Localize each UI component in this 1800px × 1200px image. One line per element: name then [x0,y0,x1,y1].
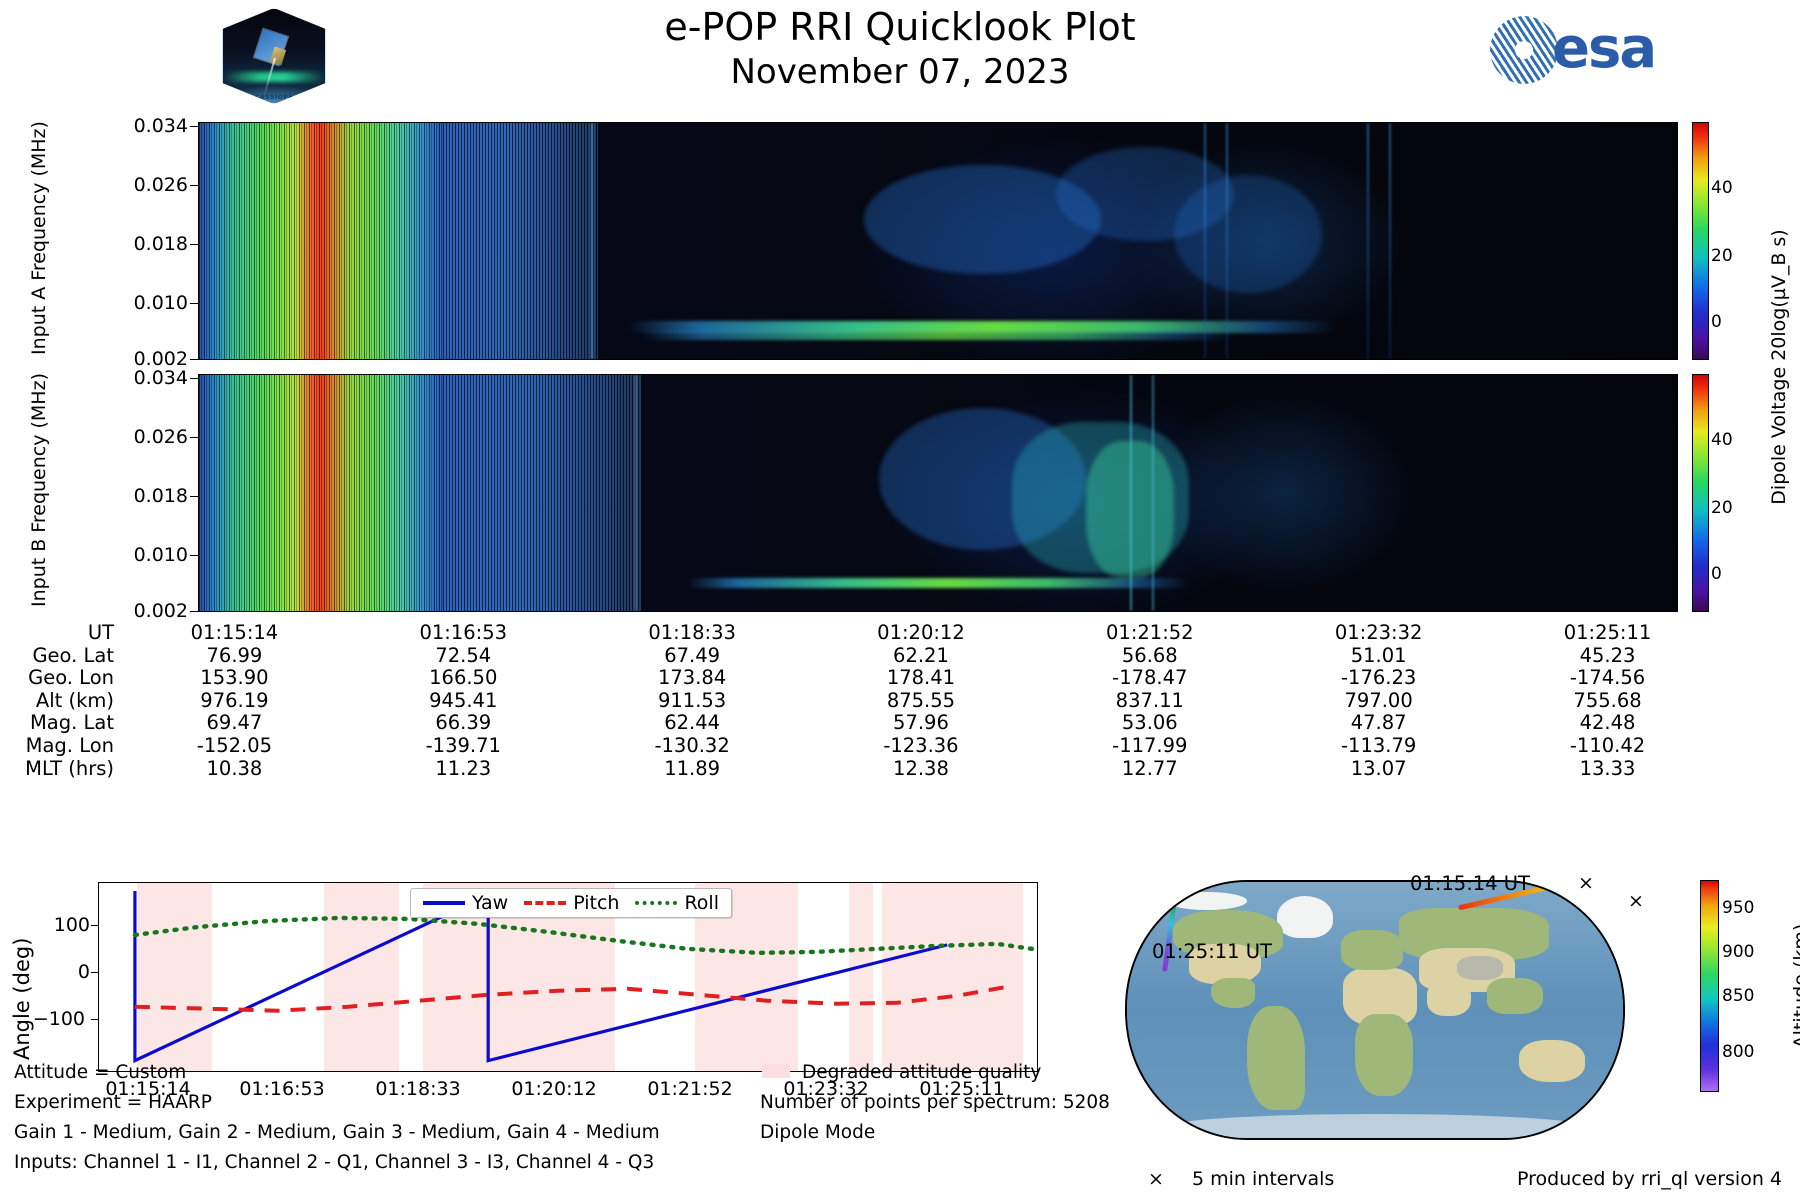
map-antarctica [1167,1114,1587,1140]
map-africa [1355,1014,1413,1096]
spacer [1722,735,1800,758]
cbar-a-tick-20: 20 [1711,246,1733,266]
spec-a-tickmark [190,359,198,360]
cell-geolon-6: -174.56 [1493,667,1722,690]
spectrogram-b-ylabel: Input B Frequency (MHz) [28,373,50,607]
cassiope-caption: CASSIOPE [223,94,325,101]
spacer [1722,667,1800,690]
attitude-legend: Yaw Pitch Roll [410,888,732,918]
spec-b-tickmark [190,437,198,438]
cell-maglat-6: 42.48 [1493,712,1722,735]
table-row-mlt: MLT (hrs) 10.38 11.23 11.89 12.38 12.77 … [0,758,1800,781]
cell-geolat-0: 76.99 [120,645,349,668]
attitude-tickmark [91,972,98,973]
cbar-a-tick-0: 0 [1711,312,1722,332]
cell-mlt-4: 12.77 [1035,758,1264,781]
spec-a-tickmark [190,244,198,245]
map-australia [1519,1040,1585,1082]
table-row-geo-lat: Geo. Lat 76.99 72.54 67.49 62.21 56.68 5… [0,645,1800,668]
row-label-mag-lat: Mag. Lat [0,712,120,735]
footer-dipole-mode-line: Dipole Mode [760,1118,1110,1148]
spec-b-ytick-4: 0.002 [96,600,188,622]
spec-a-emission-line-2 [642,331,1233,340]
spec-a-bright-band [199,123,443,359]
legend-item-yaw: Yaw [423,892,508,914]
spec-a-tickmark [190,185,198,186]
cell-mlt-3: 12.38 [807,758,1036,781]
cell-maglat-0: 69.47 [120,712,349,735]
cell-alt-0: 976.19 [120,690,349,713]
alt-tick-950: 950 [1722,898,1754,918]
spectrogram-panel-b [198,374,1678,612]
cell-maglat-4: 53.06 [1035,712,1264,735]
spec-a-mid-band [443,123,606,359]
spec-a-vertical-streak [1226,123,1228,359]
cell-maglon-3: -123.36 [807,735,1036,758]
attitude-ytick-neg100: −100 [5,1008,85,1030]
map-south-america [1247,1006,1305,1110]
spectrogram-panel-a [198,122,1678,360]
cell-alt-4: 837.11 [1035,690,1264,713]
map-southeast-asia [1487,978,1543,1014]
footer-mid-block: Degraded attitude quality Number of poin… [760,1058,1110,1148]
dipole-voltage-colorbar-label: Dipole Voltage 20log(µV_B s) [1742,122,1782,612]
alt-tick-850: 850 [1722,986,1754,1006]
footer-left-block: Attitude = Custom Experiment = HAARP Gai… [14,1058,660,1178]
series-roll [135,918,1032,953]
spec-a-vertical-streak [591,123,593,359]
row-label-mag-lon: Mag. Lon [0,735,120,758]
spec-b-vertical-streak [635,375,637,611]
spec-a-tickmark [190,303,198,304]
attitude-tickmark [91,1019,98,1020]
cell-ut-5: 01:23:32 [1264,622,1493,645]
cbar-b-tick-0: 0 [1711,564,1722,584]
spacer [1722,758,1800,781]
map-end-time-label: 01:25:11 UT [1152,940,1272,963]
cell-alt-5: 797.00 [1264,690,1493,713]
cell-ut-1: 01:16:53 [349,622,578,645]
cell-geolon-5: -176.23 [1264,667,1493,690]
spec-b-mid-band [443,375,650,611]
legend-item-roll: Roll [635,892,719,914]
cell-maglat-2: 62.44 [578,712,807,735]
cell-mlt-2: 11.89 [578,758,807,781]
pitch-line-swatch [524,901,566,905]
cell-geolat-5: 51.01 [1264,645,1493,668]
row-label-geo-lon: Geo. Lon [0,667,120,690]
cell-geolat-1: 72.54 [349,645,578,668]
cell-geolon-2: 173.84 [578,667,807,690]
legend-item-pitch: Pitch [524,892,619,914]
spec-b-emission-line [687,578,1190,588]
attitude-ytick-100: 100 [10,914,90,936]
legend-label-roll: Roll [684,892,719,914]
footer-points-line: Number of points per spectrum: 5208 [760,1088,1110,1118]
cbar-b-tick-20: 20 [1711,498,1733,518]
roll-line-swatch [635,901,677,905]
esa-logo: esa [1490,14,1720,86]
spec-b-ytick-3: 0.010 [96,544,188,566]
table-row-alt: Alt (km) 976.19 945.41 911.53 875.55 837… [0,690,1800,713]
footer-experiment-line: Experiment = HAARP [14,1088,660,1118]
cell-alt-1: 945.41 [349,690,578,713]
footer-interval-text: 5 min intervals [1192,1168,1334,1190]
esa-wordmark: esa [1552,18,1655,80]
spec-b-ytick-1: 0.026 [96,426,188,448]
table-row-geo-lon: Geo. Lon 153.90 166.50 173.84 178.41 -17… [0,667,1800,690]
cell-maglon-4: -117.99 [1035,735,1264,758]
cell-ut-4: 01:21:52 [1035,622,1264,645]
cassiope-logo: CASSIOPE [222,8,326,104]
footer-gain-line: Gain 1 - Medium, Gain 2 - Medium, Gain 3… [14,1118,660,1148]
spacer [1722,712,1800,735]
spec-b-tickmark [190,378,198,379]
cell-ut-0: 01:15:14 [120,622,349,645]
cell-maglat-3: 57.96 [807,712,1036,735]
map-europe [1341,930,1403,970]
map-arctic [1167,892,1247,910]
cell-alt-3: 875.55 [807,690,1036,713]
alt-tick-900: 900 [1722,942,1754,962]
cell-geolon-4: -178.47 [1035,667,1264,690]
world-map [1125,880,1625,1140]
cell-maglat-1: 66.39 [349,712,578,735]
spacer [1722,645,1800,668]
legend-label-pitch: Pitch [573,892,619,914]
spectrogram-b-colorbar [1692,374,1709,612]
cell-maglat-5: 47.87 [1264,712,1493,735]
cell-maglon-0: -152.05 [120,735,349,758]
cell-mlt-5: 13.07 [1264,758,1493,781]
cell-ut-3: 01:20:12 [807,622,1036,645]
cell-ut-6: 01:25:11 [1493,622,1722,645]
map-central-america [1211,978,1255,1008]
row-label-alt: Alt (km) [0,690,120,713]
altitude-colorbar-label: Altitude (km) [1768,880,1796,1092]
spectrogram-a-ylabel: Input A Frequency (MHz) [28,121,50,355]
spec-b-tickmark [190,555,198,556]
map-india [1427,982,1471,1016]
cell-maglon-6: -110.42 [1493,735,1722,758]
cell-geolat-3: 62.21 [807,645,1036,668]
cell-geolat-4: 56.68 [1035,645,1264,668]
altitude-colorbar [1700,880,1719,1092]
spec-b-ytick-0: 0.034 [96,367,188,389]
map-start-x-marker-icon: × [1578,872,1594,894]
map-interval-x-marker-icon: × [1628,890,1644,912]
spec-b-vertical-streak [1130,375,1132,611]
footer-attitude-line: Attitude = Custom [14,1058,660,1088]
spec-b-bright-band [199,375,443,611]
spec-b-vertical-streak [1152,375,1154,611]
cell-ut-2: 01:18:33 [578,622,807,645]
spec-b-tickmark [190,611,198,612]
spec-a-tickmark [190,126,198,127]
cassiope-hexagon-icon: CASSIOPE [222,8,326,104]
spacer [1722,622,1800,645]
cell-alt-2: 911.53 [578,690,807,713]
spec-b-ytick-2: 0.018 [96,485,188,507]
row-label-mlt: MLT (hrs) [0,758,120,781]
yaw-line-swatch [423,901,465,905]
cell-mlt-0: 10.38 [120,758,349,781]
spec-a-vertical-streak [1204,123,1206,359]
cell-geolon-3: 178.41 [807,667,1036,690]
table-row-mag-lat: Mag. Lat 69.47 66.39 62.44 57.96 53.06 4… [0,712,1800,735]
cbar-b-tick-40: 40 [1711,430,1733,450]
esa-swirl-icon [1490,16,1558,84]
map-start-time-label: 01:15:14 UT [1410,872,1530,895]
cell-maglon-2: -130.32 [578,735,807,758]
table-row-mag-lon: Mag. Lon -152.05 -139.71 -130.32 -123.36… [0,735,1800,758]
altitude-colorbar-label-text: Altitude (km) [1790,924,1800,1049]
dipole-voltage-colorbar-label-text: Dipole Voltage 20log(µV_B s) [1768,229,1790,504]
spec-a-ytick-1: 0.026 [96,174,188,196]
cell-geolon-0: 153.90 [120,667,349,690]
spec-a-ytick-2: 0.018 [96,233,188,255]
map-himalaya [1457,956,1503,980]
spec-b-tickmark [190,496,198,497]
attitude-ytick-0: 0 [10,961,90,983]
cell-maglon-5: -113.79 [1264,735,1493,758]
cell-maglon-1: -139.71 [349,735,578,758]
spec-a-ytick-3: 0.010 [96,292,188,314]
spectrogram-a-colorbar [1692,122,1709,360]
interval-marker-icon: × [1148,1168,1164,1190]
cell-geolon-1: 166.50 [349,667,578,690]
aurora-band [223,72,325,82]
cell-mlt-1: 11.23 [349,758,578,781]
cbar-a-tick-40: 40 [1711,178,1733,198]
map-greenland [1277,896,1333,938]
cell-geolat-6: 45.23 [1493,645,1722,668]
footer-inputs-line: Inputs: Channel 1 - I1, Channel 2 - Q1, … [14,1148,660,1178]
ephemeris-table: UT 01:15:14 01:16:53 01:18:33 01:20:12 0… [0,622,1800,780]
footer-produced-by: Produced by rri_ql version 4 [1517,1168,1782,1190]
spec-a-ytick-0: 0.034 [96,115,188,137]
spec-a-vertical-streak [1389,123,1391,359]
row-label-geo-lat: Geo. Lat [0,645,120,668]
cell-mlt-6: 13.33 [1493,758,1722,781]
spec-a-vertical-streak [1367,123,1369,359]
table-row-ut: UT 01:15:14 01:16:53 01:18:33 01:20:12 0… [0,622,1800,645]
spacer [1722,690,1800,713]
attitude-xtick-4: 01:21:52 [647,1078,732,1100]
spec-a-wisp [1174,175,1322,293]
attitude-plot-ylabel: Angle (deg) [10,938,34,1060]
legend-label-yaw: Yaw [472,892,508,914]
footer-degraded-label: Degraded attitude quality [760,1058,1110,1088]
cell-geolat-2: 67.49 [578,645,807,668]
attitude-tickmark [91,925,98,926]
alt-tick-800: 800 [1722,1042,1754,1062]
cell-alt-6: 755.68 [1493,690,1722,713]
row-label-ut: UT [0,622,120,645]
